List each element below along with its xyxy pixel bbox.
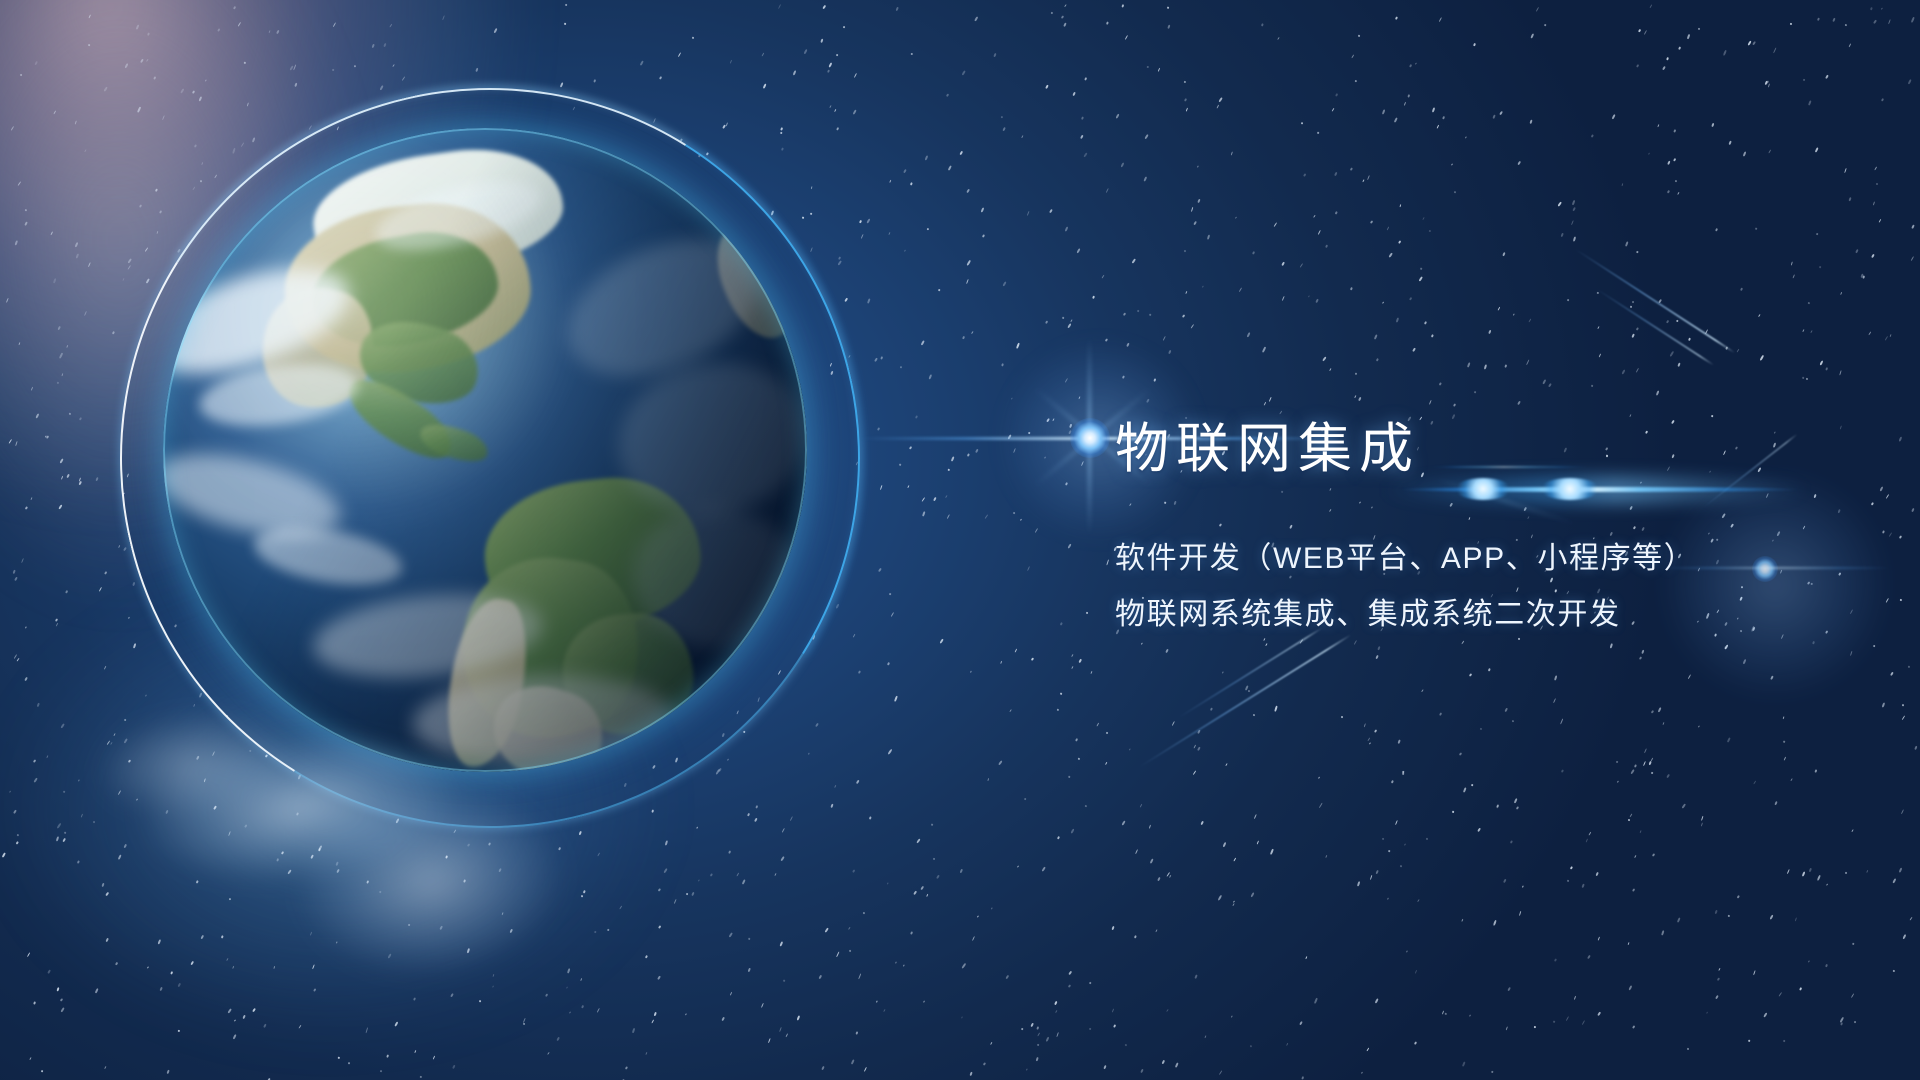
- hero-banner: 物联网集成 软件开发（WEB平台、APP、小程序等） 物联网系统集成、集成系统二…: [0, 0, 1920, 1080]
- cloud-reflection: [65, 662, 655, 1039]
- banner-subline-1: 软件开发（WEB平台、APP、小程序等）: [1115, 544, 1875, 574]
- banner-copy: 物联网集成 软件开发（WEB平台、APP、小程序等） 物联网系统集成、集成系统二…: [1115, 418, 1875, 630]
- banner-headline: 物联网集成: [1115, 418, 1875, 482]
- lens-flare-core: [1070, 418, 1110, 458]
- banner-subline-2: 物联网系统集成、集成系统二次开发: [1115, 600, 1875, 630]
